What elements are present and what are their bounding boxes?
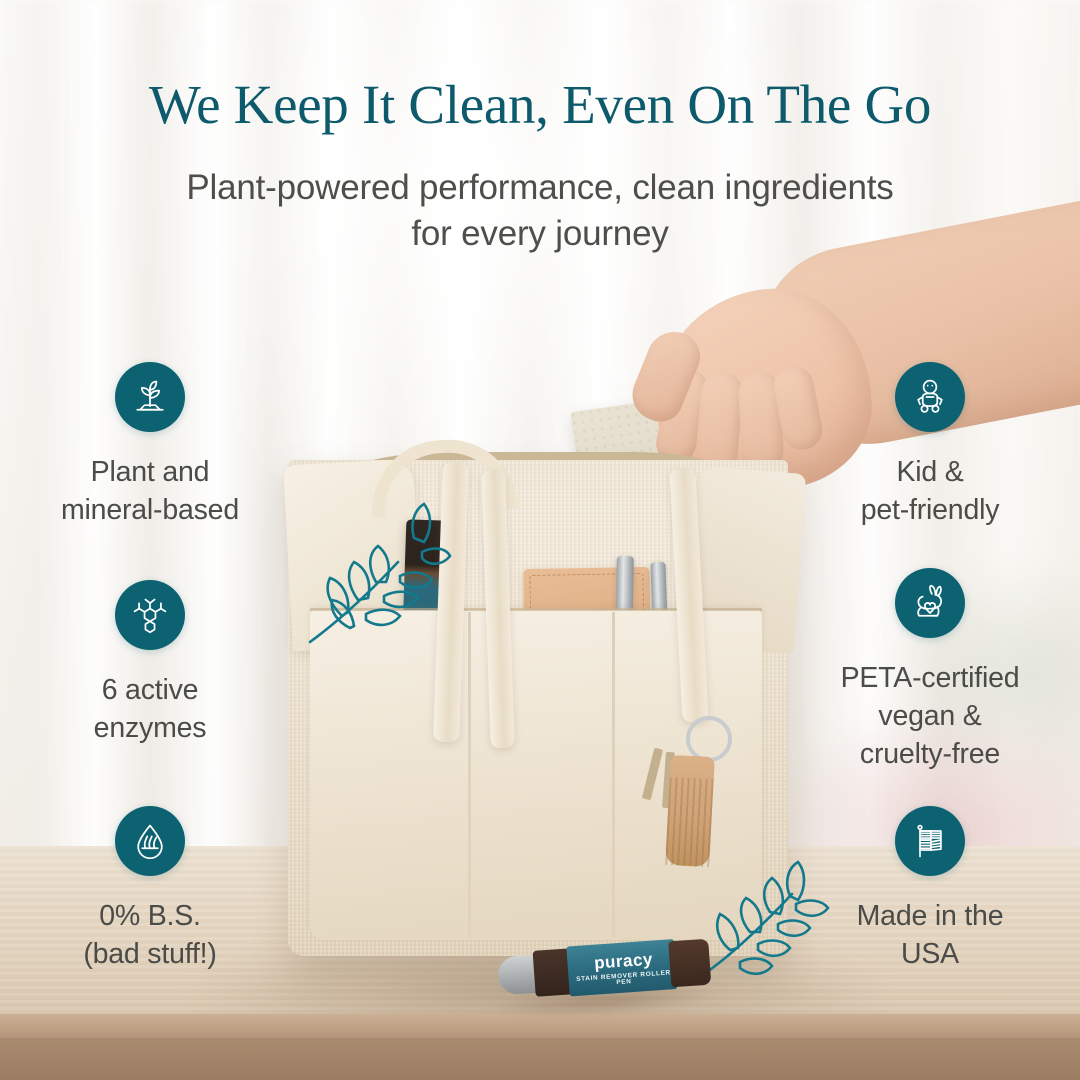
feature-label-line-2: vegan & — [790, 698, 1070, 736]
usa-flag-icon — [895, 806, 965, 876]
feature-label: PETA-certified vegan & cruelty-free — [790, 660, 1070, 774]
wood-table-front — [0, 1038, 1080, 1080]
feature-label-line-1: 6 active — [10, 672, 290, 710]
feature-label-line-1: Plant and — [10, 454, 290, 492]
feature-label-line-2: USA — [790, 936, 1070, 974]
feature-label-line-2: mineral-based — [10, 492, 290, 530]
baby-icon — [895, 362, 965, 432]
feature-label-line-3: cruelty-free — [790, 736, 1070, 774]
infographic-canvas: puracy STAIN REMOVER ROLLER PEN We Keep … — [0, 0, 1080, 1080]
subtitle-line-2: for every journey — [140, 211, 940, 257]
sprout-plant-icon — [115, 362, 185, 432]
feature-label-line-2: enzymes — [10, 710, 290, 748]
feature-label-line-1: Kid & — [790, 454, 1070, 492]
feature-label: 6 active enzymes — [10, 672, 290, 748]
feature-label-line-2: (bad stuff!) — [10, 936, 290, 974]
water-droplet-icon — [115, 806, 185, 876]
feature-label-line-1: PETA-certified — [790, 660, 1070, 698]
pocket-divider-2 — [612, 612, 615, 938]
feature-made-in-usa: Made in the USA — [790, 806, 1070, 974]
feature-label: Plant and mineral-based — [10, 454, 290, 530]
leaf-sprig-left-icon — [300, 480, 480, 650]
feature-zero-bs: 0% B.S. (bad stuff!) — [10, 806, 290, 974]
feature-plant-mineral: Plant and mineral-based — [10, 362, 290, 530]
feature-peta-vegan: PETA-certified vegan & cruelty-free — [790, 568, 1070, 774]
feature-active-enzymes: 6 active enzymes — [10, 580, 290, 748]
page-title: We Keep It Clean, Even On The Go — [0, 76, 1080, 134]
feature-kid-pet-friendly: Kid & pet-friendly — [790, 362, 1070, 530]
page-subtitle: Plant-powered performance, clean ingredi… — [140, 165, 940, 257]
feature-label-line-1: 0% B.S. — [10, 898, 290, 936]
molecule-enzyme-icon — [115, 580, 185, 650]
feature-label: Kid & pet-friendly — [790, 454, 1070, 530]
pocket-divider-1 — [468, 612, 471, 938]
feature-label: 0% B.S. (bad stuff!) — [10, 898, 290, 974]
feature-label: Made in the USA — [790, 898, 1070, 974]
leather-tassel — [665, 755, 715, 867]
feature-label-line-1: Made in the — [790, 898, 1070, 936]
subtitle-line-1: Plant-powered performance, clean ingredi… — [140, 165, 940, 211]
rabbit-heart-icon — [895, 568, 965, 638]
feature-label-line-2: pet-friendly — [790, 492, 1070, 530]
